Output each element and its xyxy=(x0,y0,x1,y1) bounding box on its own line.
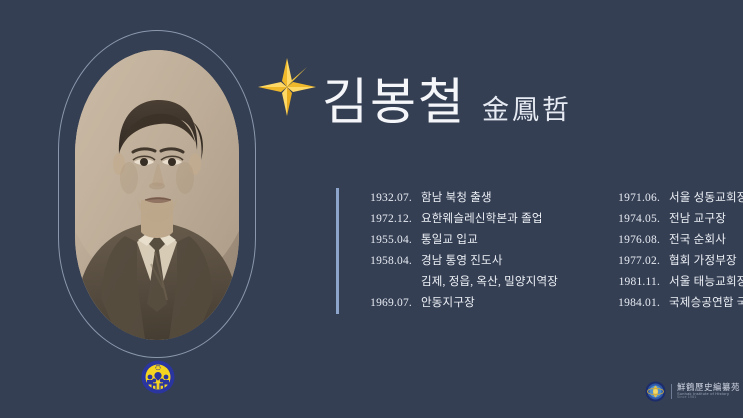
slide-canvas: 김봉철 金鳳哲 1932.07.함남 북청 출생1972.12.요한웨슬레신학본… xyxy=(0,0,743,418)
timeline-date: 1969.07. xyxy=(356,293,412,314)
timeline-row: 1976.08.전국 순회사 xyxy=(604,230,743,251)
timeline-row: 1984.01.국제승공연합 국제국장 xyxy=(604,293,743,314)
timeline-row: 김제, 정읍, 옥산, 밀양지역장 xyxy=(356,272,558,293)
logo-since: Since 1981 xyxy=(677,396,740,400)
timeline-text: 통일교 입교 xyxy=(421,230,478,251)
timeline-text: 함남 북청 출생 xyxy=(421,188,492,209)
family-federation-emblem-icon xyxy=(141,360,175,394)
timeline-row: 1971.06.서울 성동교회장 xyxy=(604,188,743,209)
timeline-column-left: 1932.07.함남 북청 출생1972.12.요한웨슬레신학본과 졸업1955… xyxy=(336,188,558,314)
portrait-block xyxy=(58,28,258,390)
timeline-date: 1976.08. xyxy=(604,230,660,251)
timeline-row: 1981.11.서울 태능교회장 xyxy=(604,272,743,293)
logo-divider xyxy=(671,384,672,399)
timeline-date: 1955.04. xyxy=(356,230,412,251)
timeline-column-right: 1971.06.서울 성동교회장1974.05.전남 교구장1976.08.전국… xyxy=(582,188,743,314)
timeline-date: 1932.07. xyxy=(356,188,412,209)
timeline-text: 전남 교구장 xyxy=(669,209,726,230)
name-hanja: 金鳳哲 xyxy=(482,88,572,127)
timeline-text: 서울 성동교회장 xyxy=(669,188,743,209)
timeline-text: 서울 태능교회장 xyxy=(669,272,743,293)
timeline-date: 1958.04. xyxy=(356,251,412,272)
timeline-row: 1974.05.전남 교구장 xyxy=(604,209,743,230)
timeline-row: 1955.04.통일교 입교 xyxy=(356,230,558,251)
timeline-date: 1977.02. xyxy=(604,251,660,272)
timeline-text: 김제, 정읍, 옥산, 밀양지역장 xyxy=(421,272,558,293)
name-hangul: 김봉철 xyxy=(322,62,466,134)
timeline-date: 1981.11. xyxy=(604,272,660,293)
timeline-date: 1984.01. xyxy=(604,293,660,314)
sunhak-institute-globe-icon xyxy=(645,381,666,402)
timeline-date: 1972.12. xyxy=(356,209,412,230)
timeline-row: 1932.07.함남 북청 출생 xyxy=(356,188,558,209)
logo-text-block: 鮮鶴歷史編纂苑 Sunhak Institute of History Sinc… xyxy=(677,383,740,400)
institute-logo: 鮮鶴歷史編纂苑 Sunhak Institute of History Sinc… xyxy=(645,381,740,402)
timeline-row: 1969.07.안동지구장 xyxy=(356,293,558,314)
timeline-row: 1972.12.요한웨슬레신학본과 졸업 xyxy=(356,209,558,230)
career-timeline: 1932.07.함남 북청 출생1972.12.요한웨슬레신학본과 졸업1955… xyxy=(336,188,743,314)
timeline-text: 경남 통영 진도사 xyxy=(421,251,503,272)
timeline-date: 1971.06. xyxy=(604,188,660,209)
portrait-photo xyxy=(75,50,239,340)
timeline-text: 협회 가정부장 xyxy=(669,251,737,272)
timeline-text: 전국 순회사 xyxy=(669,230,726,251)
eight-point-star-icon xyxy=(256,56,318,118)
timeline-row: 1958.04.경남 통영 진도사 xyxy=(356,251,558,272)
timeline-date: 1974.05. xyxy=(604,209,660,230)
timeline-text: 국제승공연합 국제국장 xyxy=(669,293,743,314)
timeline-text: 요한웨슬레신학본과 졸업 xyxy=(421,209,543,230)
portrait-photo-image xyxy=(75,50,239,340)
timeline-text: 안동지구장 xyxy=(421,293,475,314)
timeline-row: 1977.02.협회 가정부장 xyxy=(604,251,743,272)
page-title: 김봉철 金鳳哲 xyxy=(322,62,572,134)
